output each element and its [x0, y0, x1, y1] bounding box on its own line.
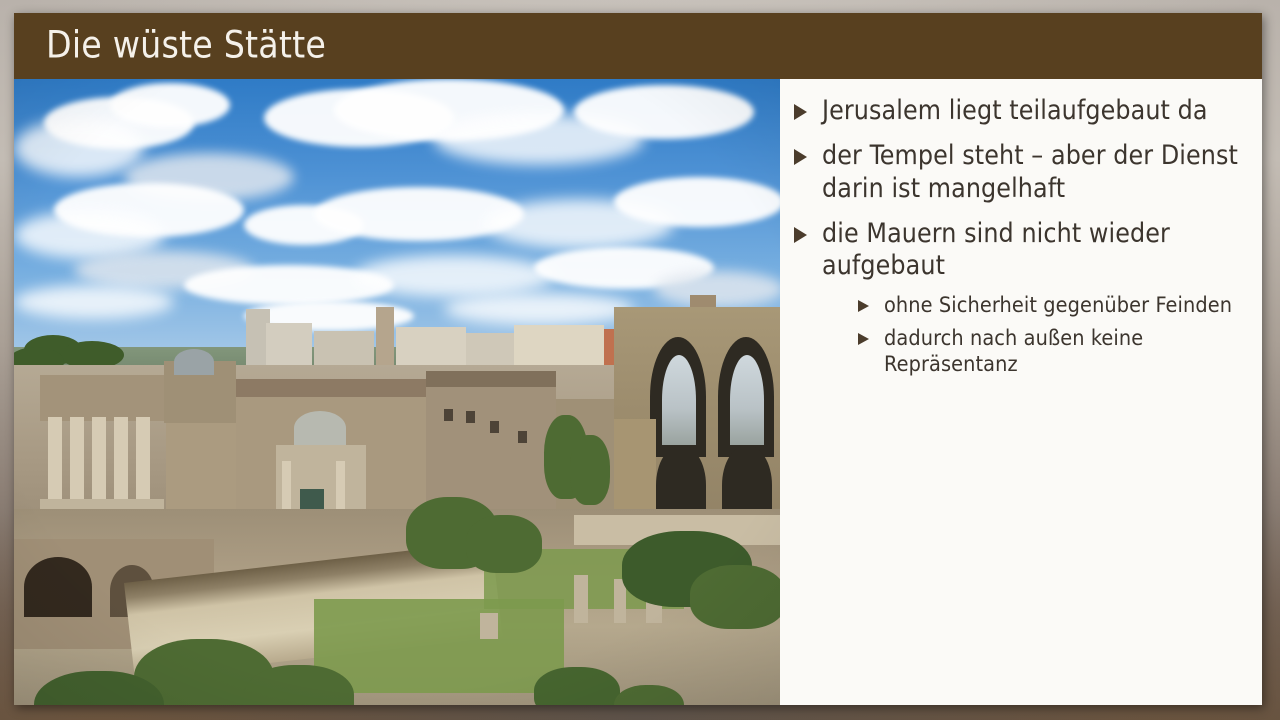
far-building: [514, 325, 604, 367]
column: [48, 417, 62, 501]
lawn: [314, 599, 564, 693]
bullet-text: Jerusalem liegt teilaufgebaut da: [822, 95, 1208, 126]
far-building: [466, 333, 520, 367]
far-building: [266, 323, 312, 365]
triangle-right-icon: [794, 227, 807, 243]
column: [92, 417, 106, 501]
cloud: [654, 271, 780, 307]
window: [490, 421, 499, 433]
bush: [534, 667, 620, 705]
column: [136, 417, 150, 501]
bullet-text: der Tempel steht – aber der Dienst darin…: [822, 140, 1238, 203]
cypress-tree: [570, 435, 610, 505]
slide-canvas: Die wüste Stätte: [14, 13, 1262, 705]
sub-bullet-text: ohne Sicherheit gegenüber Feinden: [884, 293, 1232, 318]
sub-bullet-item-2: dadurch nach außen keine Repräsentanz: [852, 326, 1242, 378]
window: [444, 409, 453, 421]
cloud: [444, 293, 634, 325]
dome: [174, 349, 214, 375]
bullet-item-1: Jerusalem liegt teilaufgebaut da: [788, 95, 1242, 127]
triangle-right-icon: [794, 149, 807, 165]
cloud: [14, 285, 174, 319]
cloud: [110, 83, 230, 127]
roofline: [236, 379, 426, 397]
page-title: Die wüste Stätte: [46, 24, 326, 67]
far-building: [314, 331, 374, 367]
presentation-frame: Die wüste Stätte: [0, 0, 1280, 720]
bullet-content-pane: Jerusalem liegt teilaufgebaut da der Tem…: [780, 79, 1262, 705]
bullet-item-2: der Tempel steht – aber der Dienst darin…: [788, 140, 1242, 205]
tower: [376, 307, 394, 367]
bush: [466, 515, 542, 573]
temple-pediment: [40, 375, 164, 421]
roofline: [426, 371, 556, 387]
round-temple-dome: [294, 411, 346, 445]
window: [518, 431, 527, 443]
column: [114, 417, 128, 501]
window: [466, 411, 475, 423]
cloud: [574, 85, 754, 139]
sub-bullet-list: ohne Sicherheit gegenüber Feinden dadurc…: [822, 293, 1242, 379]
arch-opening: [662, 355, 696, 445]
stone-block: [480, 613, 498, 639]
triangle-right-icon: [858, 300, 869, 312]
bullet-list: Jerusalem liegt teilaufgebaut da der Tem…: [788, 95, 1242, 378]
roman-forum-ruins-photo: [14, 79, 780, 705]
triangle-right-icon: [858, 333, 869, 345]
slide-body: Jerusalem liegt teilaufgebaut da der Tem…: [14, 79, 1262, 705]
triangle-right-icon: [794, 104, 807, 120]
column: [70, 417, 84, 501]
column-stump: [574, 575, 588, 623]
cloud: [354, 255, 554, 297]
cloud: [14, 119, 144, 177]
sub-bullet-text: dadurch nach außen keine Repräsentanz: [884, 326, 1143, 377]
arch-opening: [730, 355, 764, 445]
bullet-text: die Mauern sind nicht wieder aufgebaut: [822, 218, 1170, 281]
slide-title-bar: Die wüste Stätte: [14, 13, 1262, 79]
far-building: [396, 327, 466, 367]
bullet-item-3: die Mauern sind nicht wieder aufgebaut o…: [788, 218, 1242, 378]
dark-vault-opening: [24, 557, 92, 617]
cloud: [614, 177, 780, 227]
sub-bullet-item-1: ohne Sicherheit gegenüber Feinden: [852, 293, 1242, 319]
bush: [690, 565, 780, 629]
